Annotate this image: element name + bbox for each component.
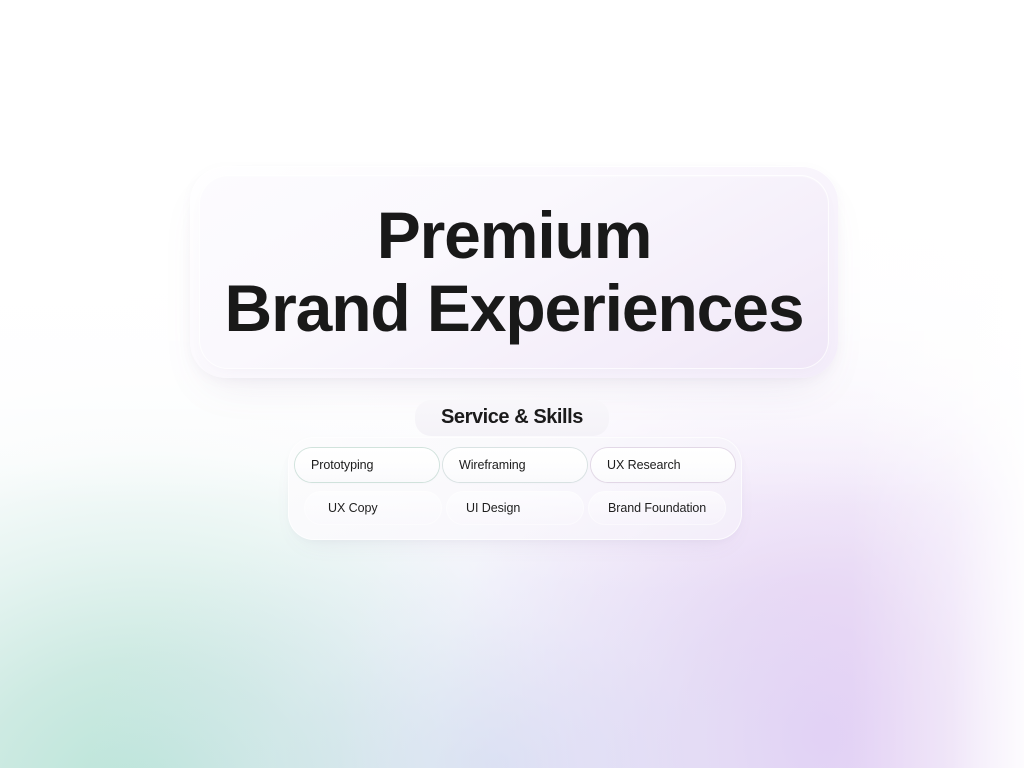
skills-panel: Prototyping Wireframing UX Research UX C… [288, 437, 742, 540]
hero-title-line-2: Brand Experiences [225, 274, 804, 343]
skill-chip-brand-foundation[interactable]: Brand Foundation [588, 491, 726, 525]
skill-chip-prototyping[interactable]: Prototyping [295, 448, 439, 482]
hero-card-inner-panel: Premium Brand Experiences [199, 175, 829, 369]
skills-row-primary: Prototyping Wireframing UX Research [296, 448, 734, 482]
page-title: Premium Brand Experiences [225, 201, 804, 342]
hero-title-line-1: Premium [225, 201, 804, 270]
hero-card: Premium Brand Experiences [190, 166, 838, 378]
skills-row-secondary: UX Copy UI Design Brand Foundation [296, 491, 734, 525]
skill-chip-wireframing[interactable]: Wireframing [443, 448, 587, 482]
stage: Premium Brand Experiences Service & Skil… [0, 0, 1024, 768]
section-label-container: Service & Skills [0, 400, 1024, 436]
skill-chip-ux-research[interactable]: UX Research [591, 448, 735, 482]
section-heading-service-and-skills: Service & Skills [415, 400, 609, 436]
skill-chip-ui-design[interactable]: UI Design [446, 491, 584, 525]
skill-chip-ux-copy[interactable]: UX Copy [304, 491, 442, 525]
